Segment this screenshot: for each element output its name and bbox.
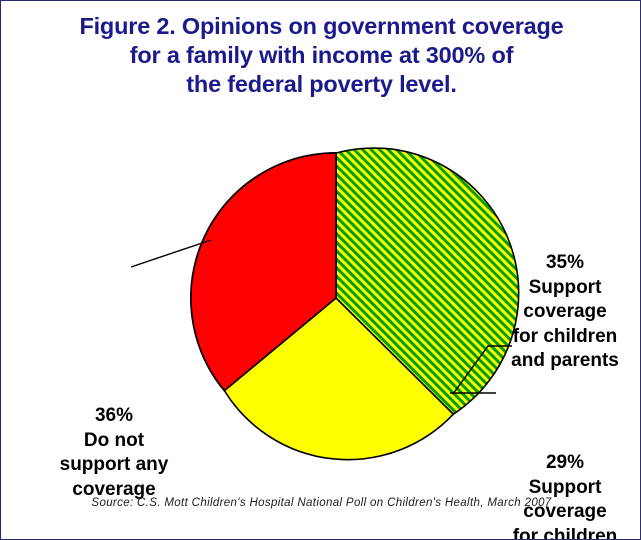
callout-none-line-2: Do not <box>19 429 209 454</box>
callout-support-children-only: 29% Support coverage for children only <box>490 451 640 540</box>
title-line-1: Figure 2. Opinions on government coverag… <box>1 12 641 41</box>
page-title: Figure 2. Opinions on government coverag… <box>1 12 641 99</box>
callout-none-line-1: 36% <box>19 404 209 429</box>
title-line-2: for a family with income at 300% of <box>1 41 641 70</box>
pie-chart: 35% Support coverage for children and pa… <box>1 121 641 481</box>
source-note: Source: C.S. Mott Children's Hospital Na… <box>1 497 641 509</box>
callout-parents-line-3: coverage <box>490 300 640 325</box>
callout-parents-line-1: 35% <box>490 251 640 276</box>
title-line-3: the federal poverty level. <box>1 70 641 99</box>
callout-children-line-4: for children <box>490 525 640 540</box>
callout-parents-line-4: for children <box>490 325 640 350</box>
callout-parents-line-2: Support <box>490 276 640 301</box>
callout-do-not-support: 36% Do not support any coverage <box>19 404 209 502</box>
figure-canvas: Figure 2. Opinions on government coverag… <box>0 0 641 540</box>
callout-parents-line-5: and parents <box>490 349 640 374</box>
callout-children-line-1: 29% <box>490 451 640 476</box>
callout-none-line-3: support any <box>19 453 209 478</box>
callout-support-children-and-parents: 35% Support coverage for children and pa… <box>490 251 640 374</box>
